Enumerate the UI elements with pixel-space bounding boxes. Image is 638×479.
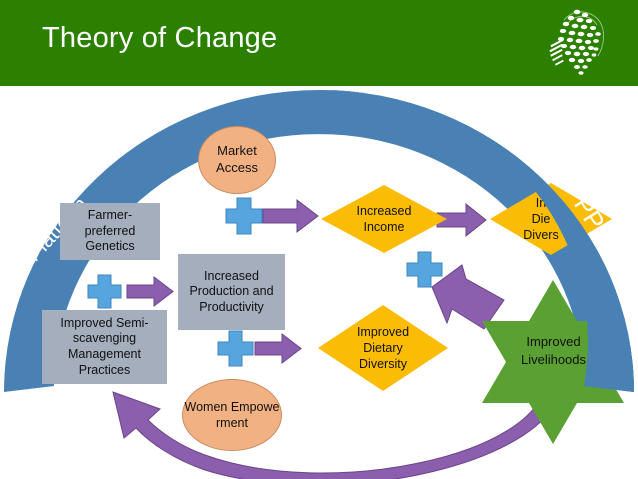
node-women-empowerment-label: Women Empowe rment <box>183 399 281 432</box>
node-improved-semi-scavenging-label: Improved Semi-scavenging Management Prac… <box>46 316 163 379</box>
arrow-to-increased-production <box>127 277 173 306</box>
arrow-to-improved-dietary-diversity <box>255 334 301 363</box>
slide-canvas: Theory of Change <box>0 0 638 479</box>
node-market-access-label: Market Access <box>216 143 258 177</box>
diamond-increased-income[interactable] <box>321 185 447 253</box>
node-market-access[interactable]: Market Access <box>198 126 276 194</box>
node-farmer-preferred-genetics[interactable]: Farmer-preferred Genetics <box>60 203 160 260</box>
plus-connector-2 <box>88 275 121 308</box>
node-increased-production-label: Increased Production and Productivity <box>182 269 281 316</box>
plus-connector-3 <box>218 331 253 366</box>
node-improved-semi-scavenging[interactable]: Improved Semi-scavenging Management Prac… <box>42 310 167 384</box>
node-women-empowerment[interactable]: Women Empowe rment <box>182 379 282 451</box>
diamond-improved-dietary-diversity[interactable] <box>318 305 448 391</box>
plus-connector-4 <box>407 252 442 287</box>
node-farmer-preferred-genetics-label: Farmer-preferred Genetics <box>64 208 156 255</box>
node-increased-production[interactable]: Increased Production and Productivity <box>178 254 285 330</box>
arrow-diagonal-to-livelihoods <box>432 265 504 329</box>
plus-connector-1 <box>226 198 262 234</box>
arrow-to-increased-income <box>263 200 318 232</box>
